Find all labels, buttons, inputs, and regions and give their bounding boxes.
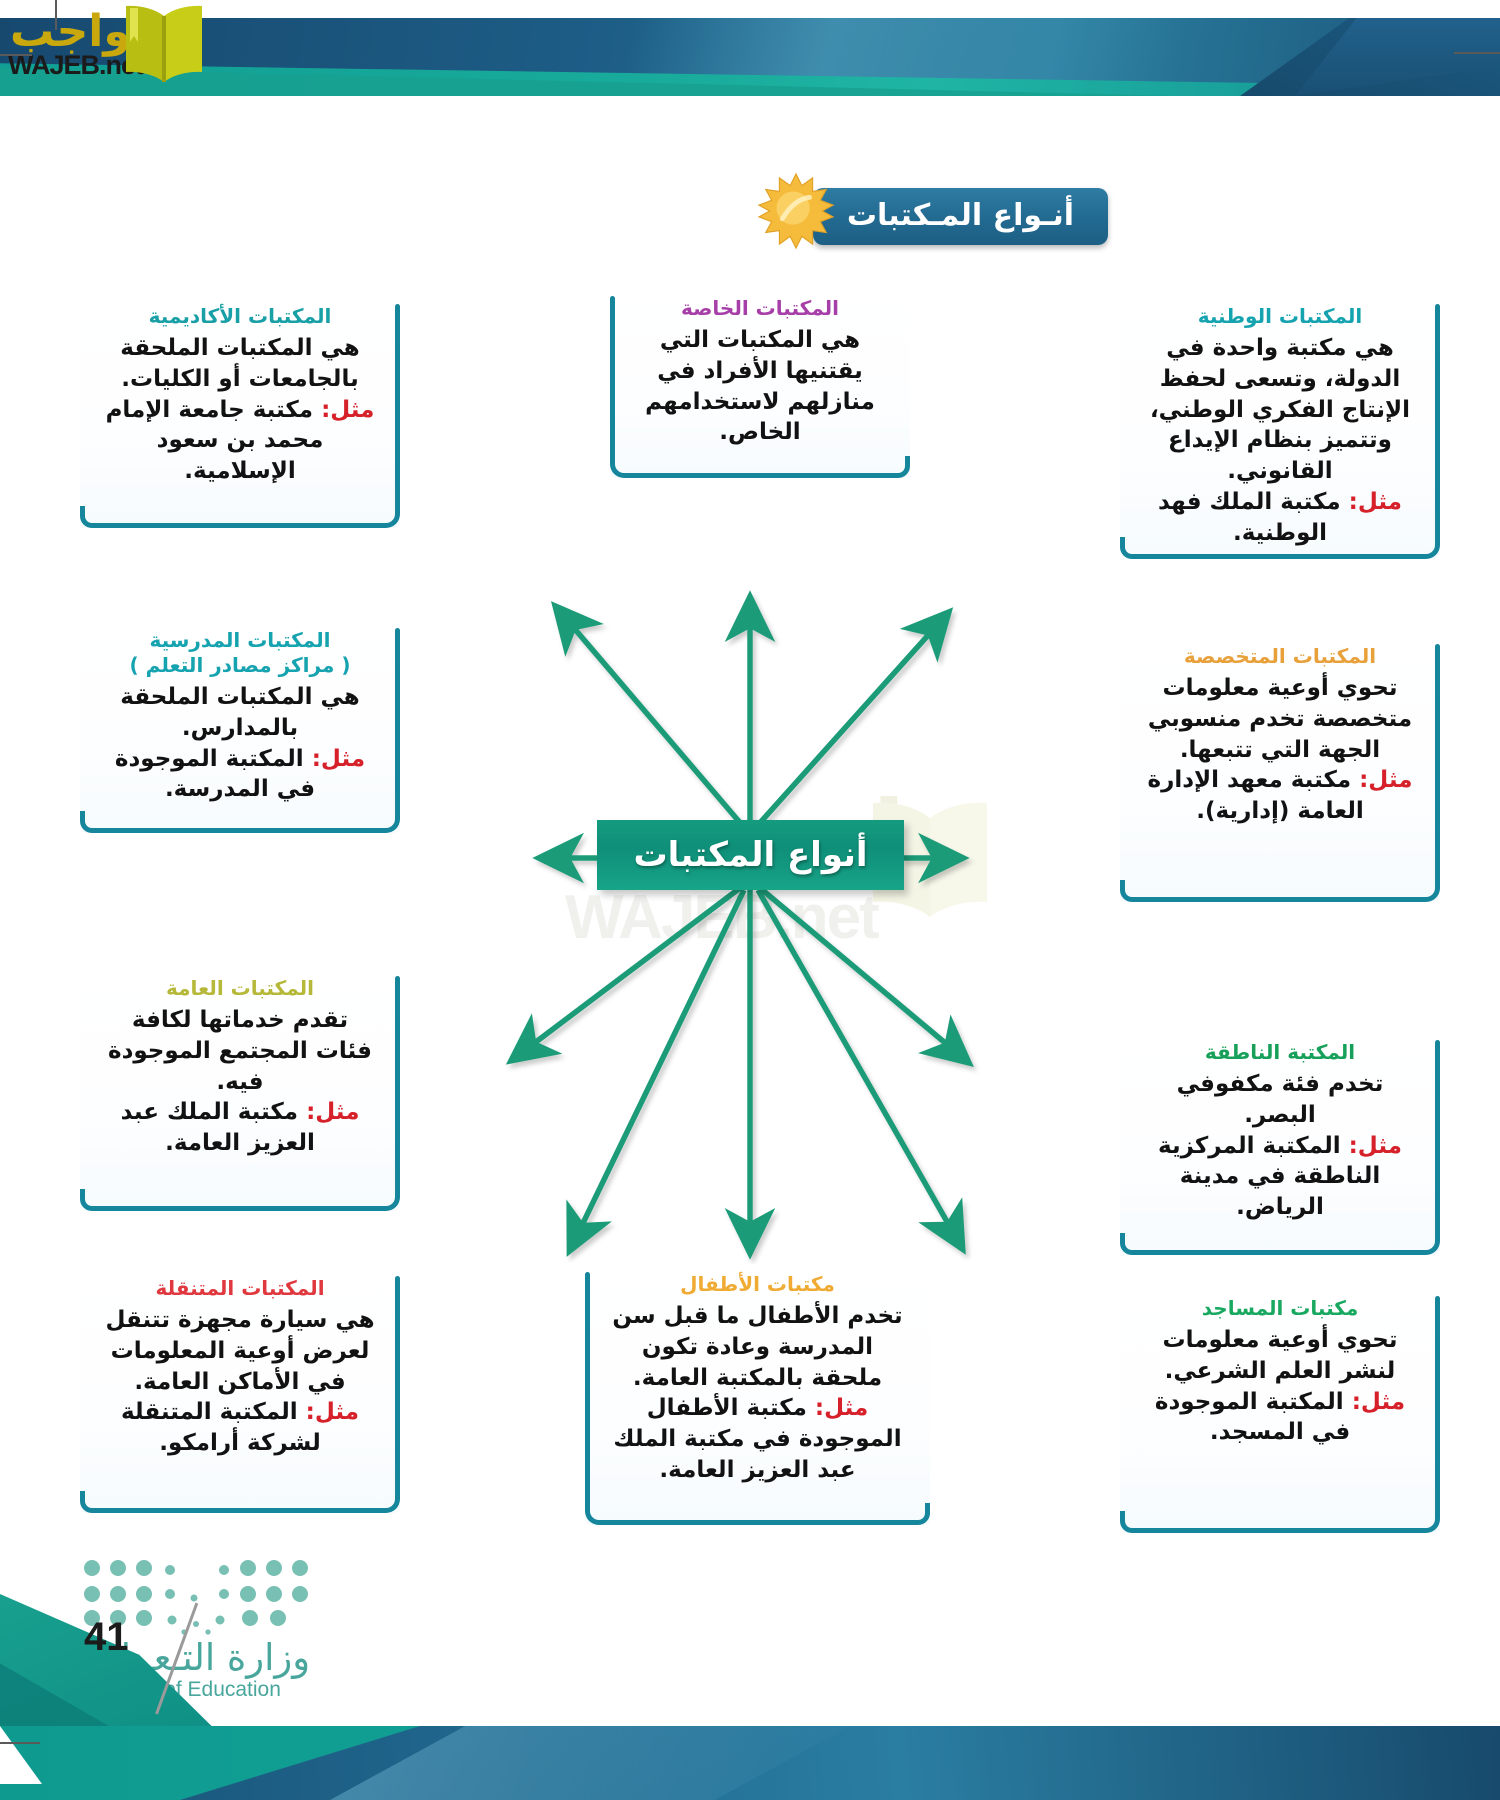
- example-label: مثل:: [312, 746, 365, 772]
- example-text: مكتبة معهد الإدارة العامة (إدارية).: [1148, 767, 1364, 824]
- card-body: هي سيارة مجهزة تتنقل لعرض أوعية المعلوما…: [100, 1305, 380, 1397]
- card-title: المكتبات المتنقلة: [100, 1276, 380, 1301]
- example-text: مكتبة الملك عبد العزيز العامة.: [121, 1099, 315, 1156]
- card-example: مثل: مكتبة معهد الإدارة العامة (إدارية).: [1140, 765, 1420, 827]
- footer-scan-rule: [0, 1742, 40, 1744]
- example-label: مثل:: [321, 397, 374, 423]
- card-body: تخدم الأطفال ما قبل سن المدرسة وعادة تكو…: [605, 1301, 910, 1393]
- card-example: مثل: المكتبة الموجودة في المدرسة.: [100, 744, 380, 806]
- center-watermark-word: WAJEB: [565, 883, 775, 952]
- example-label: مثل:: [306, 1099, 359, 1125]
- center-node: أنواع المكتبات: [597, 820, 904, 890]
- card-title: المكتبات العامة: [100, 976, 380, 1001]
- card-title: المكتبات المدرسية( مراكز مصادر التعلم ): [100, 628, 380, 678]
- wajeb-watermark-logo: واجب WAJEB.net: [6, 2, 222, 88]
- card-national-libraries[interactable]: المكتبات الوطنية هي مكتبة واحدة في الدول…: [1120, 296, 1440, 559]
- card-body: تخدم فئة مكفوفي البصر.: [1140, 1069, 1420, 1131]
- card-title: المكتبات المتخصصة: [1140, 644, 1420, 669]
- card-example: مثل: مكتبة الأطفال الموجودة في مكتبة الم…: [605, 1393, 910, 1485]
- card-example: مثل: المكتبة المتنقلة لشركة أرامكو.: [100, 1397, 380, 1459]
- card-title: المكتبات الوطنية: [1140, 304, 1420, 329]
- example-text: المكتبة الموجودة في المدرسة.: [115, 746, 315, 803]
- card-children-libraries[interactable]: مكتبات الأطفال تخدم الأطفال ما قبل سن ال…: [585, 1264, 930, 1525]
- card-specialized-libraries[interactable]: المكتبات المتخصصة تحوي أوعية معلومات متخ…: [1120, 636, 1440, 902]
- page-title: أنـواع المـكتبات: [813, 188, 1108, 245]
- example-text: المكتبة المركزية الناطقة في مدينة الرياض…: [1158, 1133, 1380, 1221]
- card-talking-library[interactable]: المكتبة الناطقة تخدم فئة مكفوفي البصر. م…: [1120, 1032, 1440, 1255]
- card-public-libraries[interactable]: المكتبات العامة تقدم خدماتها لكافة فئات …: [80, 968, 400, 1211]
- example-text: المكتبة المتنقلة لشركة أرامكو.: [121, 1399, 321, 1456]
- card-title: المكتبة الناطقة: [1140, 1040, 1420, 1065]
- example-label: مثل:: [1359, 767, 1412, 793]
- card-private-libraries[interactable]: المكتبات الخاصة هي المكتبات التي يقتنيها…: [610, 288, 910, 478]
- example-label: مثل:: [1352, 1389, 1405, 1415]
- open-book-icon: [114, 2, 214, 86]
- center-watermark-latin: WAJEB.net: [565, 882, 878, 953]
- scan-rule-left-horizontal: [0, 54, 32, 56]
- example-text: مكتبة الملك فهد الوطنية.: [1158, 489, 1341, 546]
- page-footer: وزارة التـعــليم Ministry of Education 1…: [0, 1540, 1500, 1800]
- card-mobile-libraries[interactable]: المكتبات المتنقلة هي سيارة مجهزة تتنقل ل…: [80, 1268, 400, 1513]
- section-title-banner: أنـواع المـكتبات: [813, 188, 1108, 245]
- card-mosque-libraries[interactable]: مكتبات المساجد تحوي أوعية معلومات لنشر ا…: [1120, 1288, 1440, 1533]
- card-example: مثل: مكتبة جامعة الإمام محمد بن سعود الإ…: [100, 395, 380, 487]
- card-school-libraries[interactable]: المكتبات المدرسية( مراكز مصادر التعلم ) …: [80, 620, 400, 833]
- card-title: مكتبات المساجد: [1140, 1296, 1420, 1321]
- footer-banner: [0, 1726, 1500, 1800]
- scan-rule-right-horizontal: [1454, 52, 1500, 54]
- card-title: المكتبات الخاصة: [630, 296, 890, 321]
- example-text: المكتبة الموجودة في المسجد.: [1155, 1389, 1350, 1446]
- card-academic-libraries[interactable]: المكتبات الأكاديمية هي المكتبات الملحقة …: [80, 296, 400, 528]
- card-body: هي المكتبات الملحقة بالجامعات أو الكليات…: [100, 333, 380, 395]
- card-body: هي المكتبات التي يقتنيها الأفراد في مناز…: [630, 325, 890, 448]
- card-body: تحوي أوعية معلومات لنشر العلم الشرعي.: [1140, 1325, 1420, 1387]
- card-example: مثل: المكتبة المركزية الناطقة في مدينة ا…: [1140, 1131, 1420, 1223]
- example-label: مثل:: [1349, 1133, 1402, 1159]
- example-label: مثل:: [1349, 489, 1402, 515]
- card-example: مثل: مكتبة الملك عبد العزيز العامة.: [100, 1097, 380, 1159]
- card-subtitle: ( مراكز مصادر التعلم ): [100, 653, 380, 678]
- example-text: مكتبة جامعة الإمام محمد بن سعود الإسلامي…: [106, 397, 324, 485]
- card-body: هي المكتبات الملحقة بالمدارس.: [100, 682, 380, 744]
- sun-burst-icon: [757, 172, 835, 250]
- card-body: هي مكتبة واحدة في الدولة، وتسعى لحفظ الإ…: [1140, 333, 1420, 487]
- card-body: تقدم خدماتها لكافة فئات المجتمع الموجودة…: [100, 1005, 380, 1097]
- top-banner: [0, 18, 1500, 96]
- center-node-label: أنواع المكتبات: [633, 835, 867, 875]
- example-label: مثل:: [815, 1395, 868, 1421]
- card-title-main: المكتبات المدرسية: [149, 628, 330, 652]
- example-label: مثل:: [306, 1399, 359, 1425]
- card-example: مثل: المكتبة الموجودة في المسجد.: [1140, 1387, 1420, 1449]
- card-title: مكتبات الأطفال: [605, 1272, 910, 1297]
- scan-rule-left-vertical: [55, 0, 57, 30]
- card-title: المكتبات الأكاديمية: [100, 304, 380, 329]
- page-number: 41: [84, 1615, 129, 1660]
- card-example: مثل: مكتبة الملك فهد الوطنية.: [1140, 487, 1420, 549]
- card-body: تحوي أوعية معلومات متخصصة تخدم منسوبي ال…: [1140, 673, 1420, 765]
